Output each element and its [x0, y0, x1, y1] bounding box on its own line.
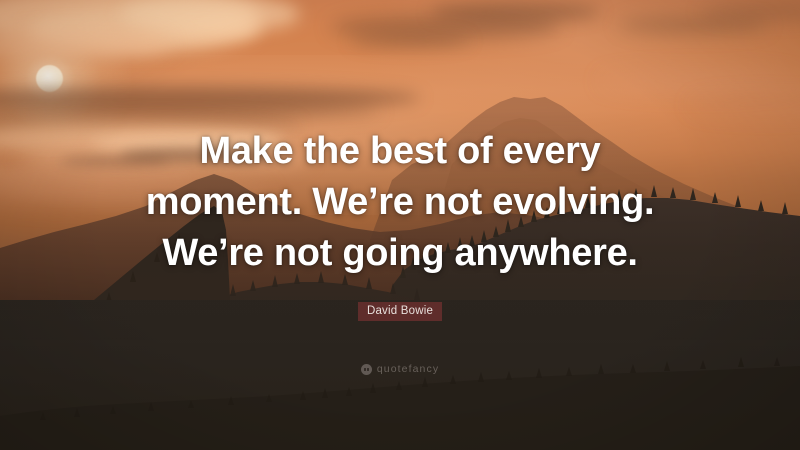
watermark-text: quotefancy [377, 364, 439, 375]
quote-poster: Make the best of every moment. We’re not… [0, 0, 800, 450]
cloud-dark-4 [350, 34, 470, 48]
author-badge[interactable]: David Bowie [358, 302, 442, 321]
author-container: David Bowie [0, 301, 800, 321]
quotefancy-logo-icon [361, 364, 372, 375]
cloud-dark-2 [430, 2, 600, 22]
watermark[interactable]: quotefancy [0, 364, 800, 375]
foreground-treeline [0, 300, 800, 450]
